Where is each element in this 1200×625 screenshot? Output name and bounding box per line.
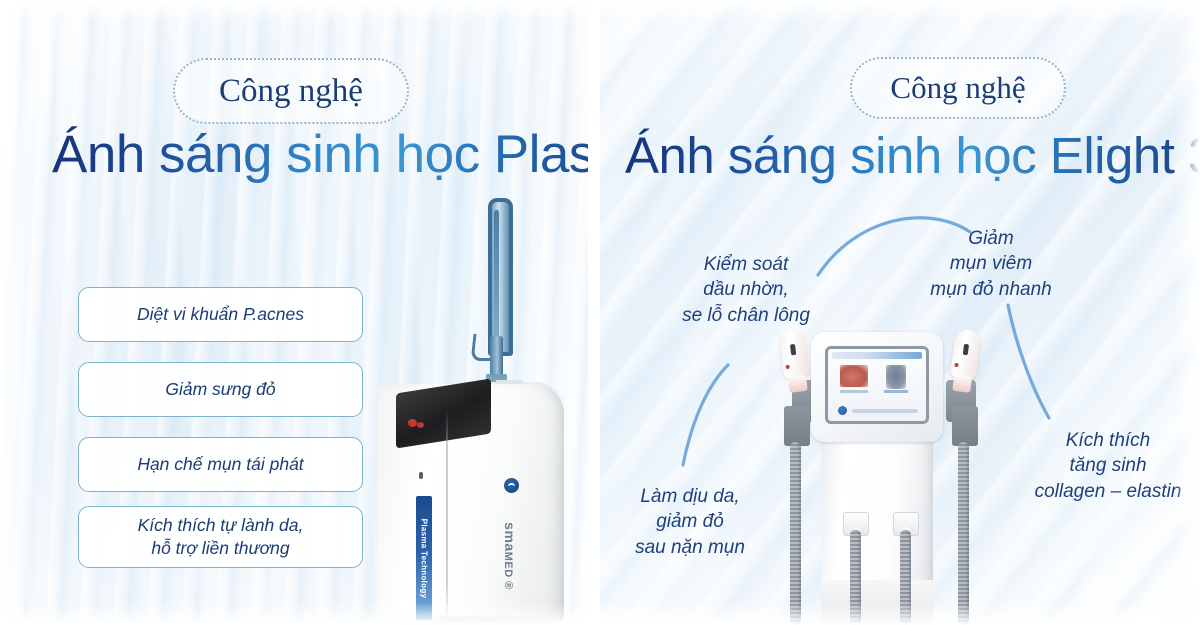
screen-caption-right — [884, 390, 908, 393]
plasma-articulated-arm — [488, 198, 513, 356]
elight-left-holster — [784, 406, 810, 446]
elight-right-handpiece-cable — [958, 442, 969, 625]
elight-screen-content — [828, 349, 926, 421]
handpiece-neck — [952, 375, 972, 393]
right-badge-label: Công nghệ — [890, 70, 1025, 106]
elight-left-handpiece — [778, 329, 811, 394]
left-bottom-fade — [0, 603, 592, 625]
handpiece-neck — [788, 375, 808, 393]
plasma-power-button — [408, 419, 417, 427]
plasma-body-seam — [446, 408, 448, 622]
annotation-soothe-skin: Làm dịu da, giảm đỏ sau nặn mụn — [608, 484, 772, 560]
annotation-reduce-inflammation: Giảm mụn viêm mụn đỏ nhanh — [903, 226, 1079, 302]
plasma-brand-text: smaMED ® — [500, 496, 520, 616]
right-top-fade — [600, 0, 1200, 22]
infographic-stage: Công nghệ Ánh sáng sinh học Plasma Diệt … — [0, 0, 1200, 625]
right-panel-title: Ánh sáng sinh học Elight 3S — [625, 126, 1200, 185]
feature-box[interactable]: Hạn chế mụn tái phát — [78, 437, 363, 492]
right-bottom-fade — [600, 603, 1200, 625]
elight-device-image — [760, 330, 1025, 625]
feature-box[interactable]: Diệt vi khuẩn P.acnes — [78, 287, 363, 342]
screen-footer-line — [852, 409, 918, 413]
left-top-fade — [0, 0, 592, 22]
annotation-collagen-elastin: Kích thích tăng sinh collagen – elastin — [1022, 428, 1194, 504]
plasma-brand-suffix: MED ® — [502, 552, 514, 590]
screen-status-dot-icon — [838, 406, 847, 415]
left-edge-fade — [0, 0, 26, 625]
feature-box[interactable]: Giảm sưng đỏ — [78, 362, 363, 417]
elight-right-handpiece — [948, 329, 981, 394]
plasma-brand-name: sma — [502, 522, 518, 552]
plasma-strip-label: Plasma Technology — [420, 518, 429, 598]
elight-touchscreen[interactable] — [825, 346, 929, 424]
right-badge-cong-nghe: Công nghệ — [850, 57, 1066, 119]
annotation-oil-control: Kiểm soát dầu nhờn, se lỗ chân lông — [666, 252, 826, 328]
left-badge-cong-nghe: Công nghệ — [173, 58, 409, 124]
feature-box[interactable]: Kích thích tự lành da, hỗ trợ liền thươn… — [78, 506, 363, 568]
left-panel-plasma: Công nghệ Ánh sáng sinh học Plasma Diệt … — [0, 0, 592, 625]
plasma-arm-inner-rail — [494, 210, 499, 348]
right-panel-elight: Công nghệ Ánh sáng sinh học Elight 3S Ki… — [600, 0, 1200, 625]
plasma-device-image: Plasma Technology smaMED ® — [372, 196, 587, 621]
right-edge-fade — [1174, 0, 1200, 625]
plasma-logo-mark-icon — [504, 478, 519, 493]
screen-header-bar — [832, 352, 922, 359]
screen-thumbnail-treatment — [840, 365, 868, 387]
elight-right-holster — [952, 406, 978, 446]
left-panel-title: Ánh sáng sinh học Plasma — [52, 124, 592, 185]
plasma-indicator-led — [419, 472, 423, 479]
left-badge-label: Công nghệ — [219, 73, 363, 110]
screen-caption-left — [840, 390, 868, 393]
screen-thumbnail-mode — [886, 365, 906, 389]
plasma-technology-strip: Plasma Technology — [416, 496, 432, 620]
elight-left-handpiece-cable — [790, 442, 801, 625]
